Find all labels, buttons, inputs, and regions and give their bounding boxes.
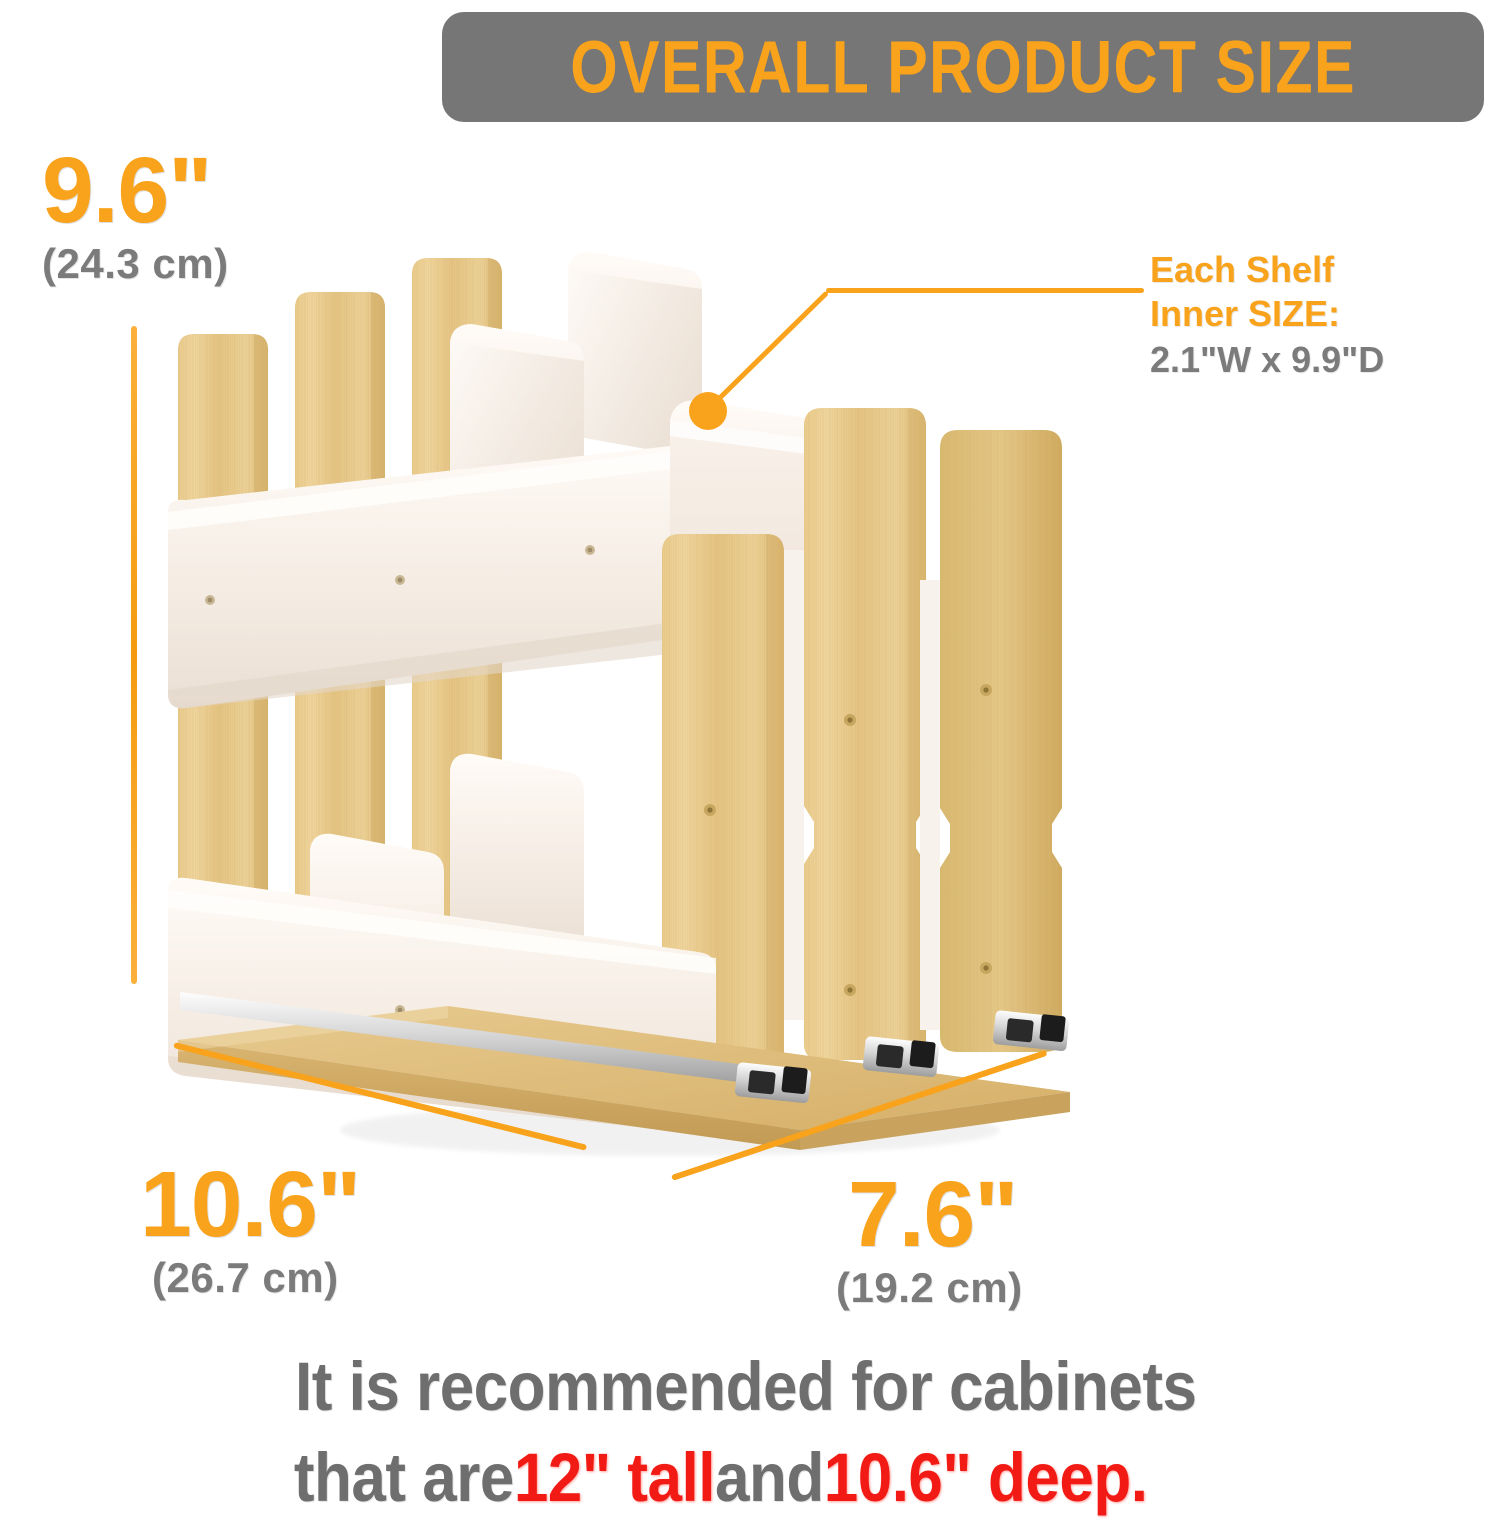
- callout-line-2: Inner SIZE:: [1150, 292, 1480, 336]
- recommendation-text-1: It is recommended for cabinets: [295, 1348, 1196, 1426]
- dimension-width-value: 10.6": [140, 1160, 360, 1249]
- recommendation-rule-2: [1152, 1443, 1496, 1447]
- dimension-depth: 7.6" (19.2 cm): [848, 1170, 1023, 1309]
- dimension-height-metric: (24.3 cm): [42, 243, 229, 285]
- header-banner: OVERALL PRODUCT SIZE: [442, 12, 1484, 122]
- recommendation-block: It is recommended for cabinets that are …: [0, 1352, 1496, 1514]
- recommendation-text-2a: that are: [294, 1439, 514, 1517]
- recommendation-highlight-2: 10.6" deep.: [824, 1439, 1148, 1517]
- height-dimension-line: [131, 326, 137, 984]
- dimension-depth-value: 7.6": [848, 1170, 1023, 1259]
- recommendation-line-1: It is recommended for cabinets: [295, 1352, 1201, 1423]
- dimension-depth-metric: (19.2 cm): [836, 1267, 1023, 1309]
- callout-leader-horizontal: [826, 288, 1144, 293]
- shelf-inner-size-callout: Each Shelf Inner SIZE: 2.1"W x 9.9"D: [1150, 248, 1480, 384]
- product-illustration: [150, 250, 1120, 1180]
- recommendation-line-2: that are 12" tall and 10.6" deep.: [294, 1437, 1202, 1514]
- recommendation-highlight-1: 12" tall: [514, 1439, 715, 1517]
- callout-line-1: Each Shelf: [1150, 248, 1480, 292]
- dimension-width-metric: (26.7 cm): [152, 1257, 360, 1299]
- bamboo-side-panel-3: [940, 430, 1062, 1052]
- dimension-width: 10.6" (26.7 cm): [140, 1160, 360, 1299]
- bamboo-side-panel-2: [804, 408, 926, 1060]
- dimension-height: 9.6" (24.3 cm): [42, 146, 229, 285]
- recommendation-text-2b: and: [715, 1439, 824, 1517]
- page-title: OVERALL PRODUCT SIZE: [570, 24, 1355, 109]
- dimension-height-value: 9.6": [42, 146, 229, 235]
- callout-line-3: 2.1"W x 9.9"D: [1150, 336, 1480, 385]
